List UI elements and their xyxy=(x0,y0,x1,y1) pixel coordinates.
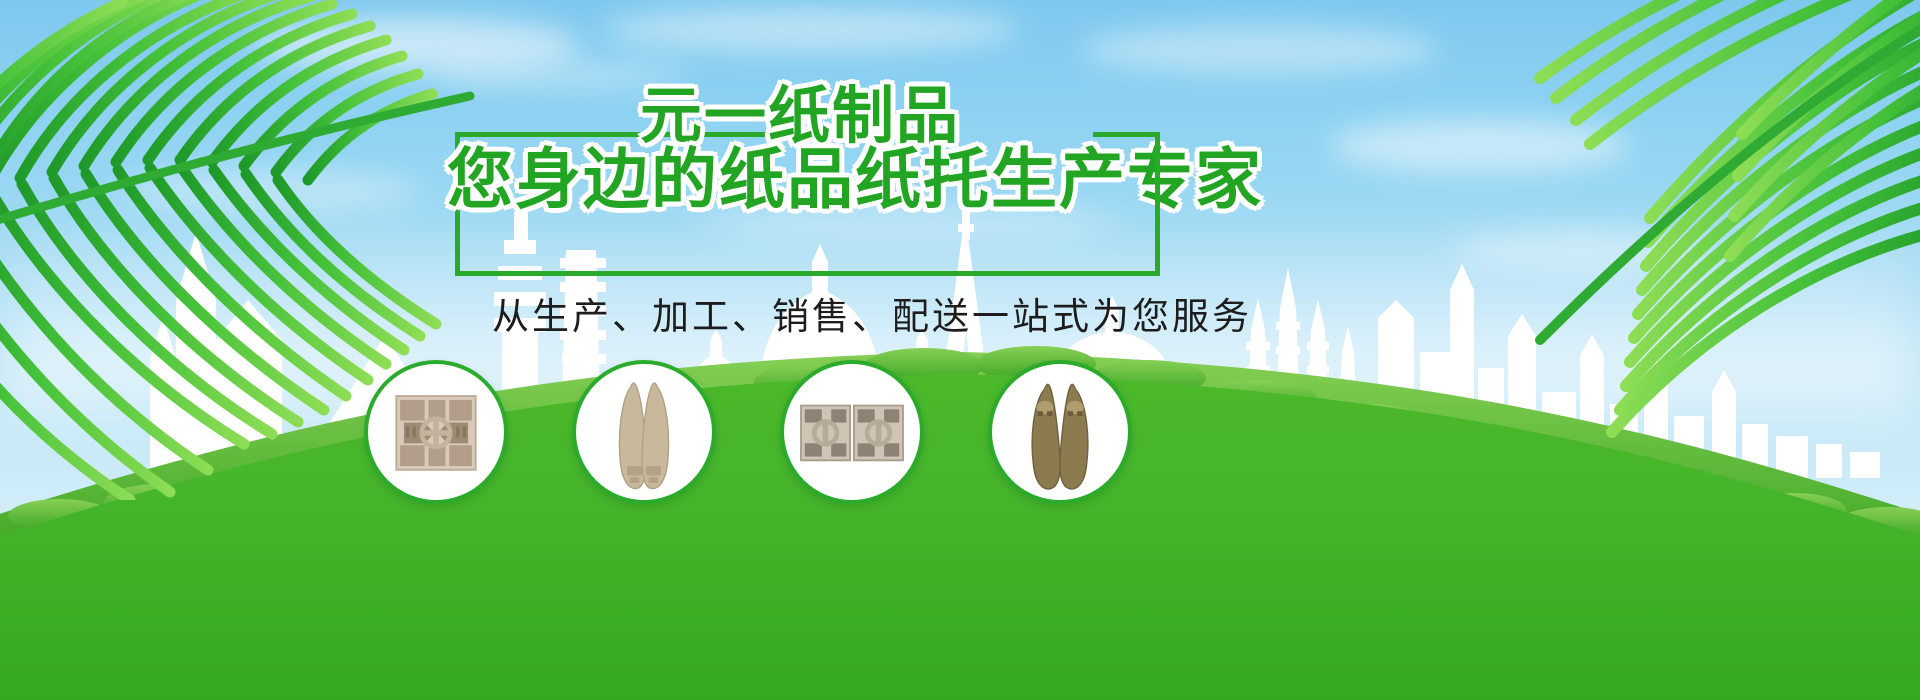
molded-pulp-shoe-trees-icon xyxy=(576,364,712,500)
molded-pulp-dual-tray-icon xyxy=(784,364,920,500)
product-circle-1[interactable]: 纸浆模塑方形托盘 xyxy=(364,360,508,504)
headline-frame: 元一纸制品 您身边的纸品纸托生产专家 xyxy=(455,88,1155,276)
headline-line-2: 您身边的纸品纸托生产专家 xyxy=(447,140,1263,220)
molded-pulp-square-tray-icon xyxy=(368,364,504,500)
frame-rule-top-right xyxy=(1093,132,1160,137)
molded-pulp-dark-shoe-forms-icon xyxy=(992,364,1128,500)
promo-banner: 元一纸制品 您身边的纸品纸托生产专家 从生产、加工、销售、配送一站式为您服务 纸… xyxy=(0,0,1920,700)
tagline: 从生产、加工、销售、配送一站式为您服务 xyxy=(492,286,1252,340)
product-circle-2[interactable]: 纸浆鞋楦一对 xyxy=(572,360,716,504)
product-circle-3[interactable]: 纸浆模塑双格托盘 xyxy=(780,360,924,504)
frame-rule-right xyxy=(1155,132,1160,276)
frame-rule-bottom xyxy=(455,271,1155,276)
product-circle-4[interactable]: 深色纸浆鞋托一对 xyxy=(988,360,1132,504)
